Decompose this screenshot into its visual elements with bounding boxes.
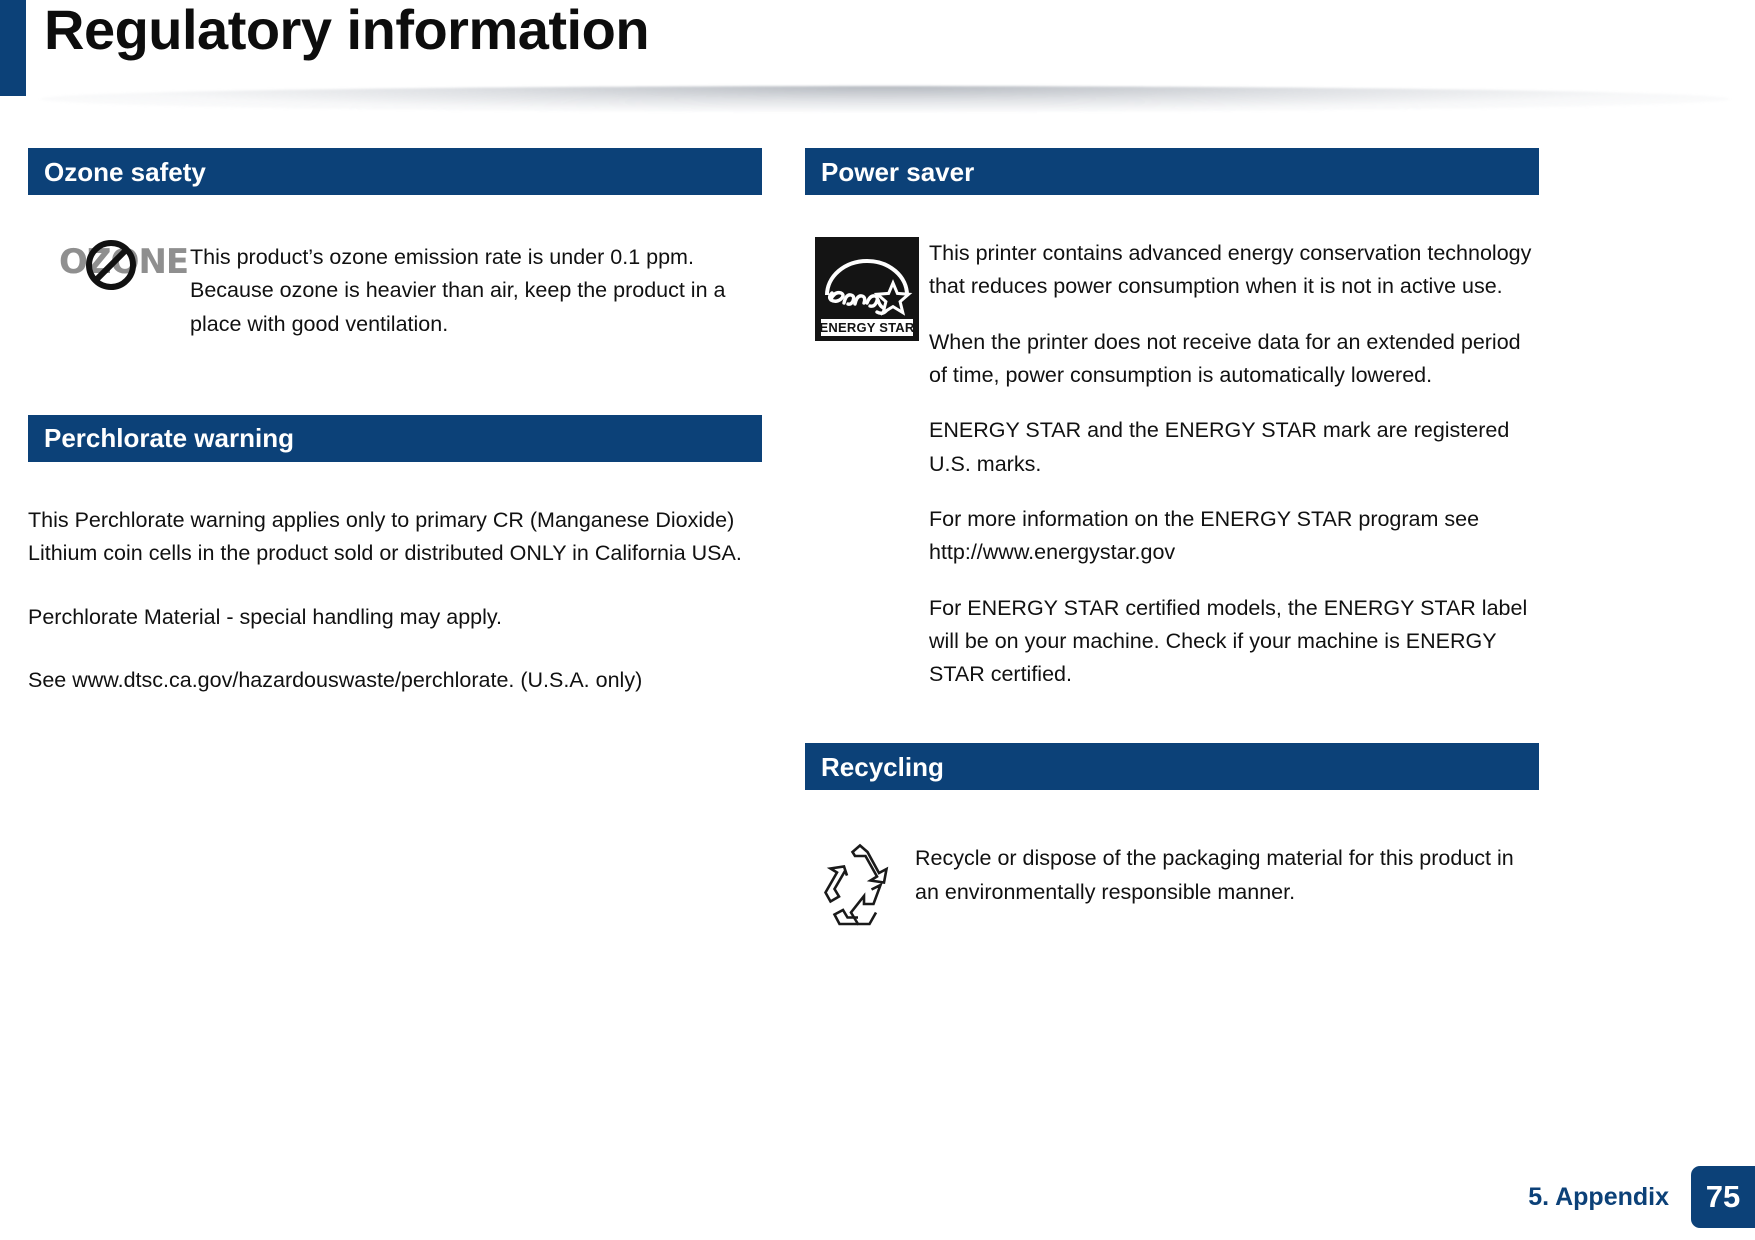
section-body-power-saver: ENERGY STAR This printer contains advanc…: [805, 237, 1539, 691]
section-header-recycling: Recycling: [805, 743, 1539, 790]
prohibition-sign-icon: [85, 239, 137, 291]
left-column: Ozone safety OZONE This product’s ozone …: [28, 148, 762, 697]
page-number-badge: 75: [1691, 1166, 1755, 1228]
section-title-perchlorate-warning: Perchlorate warning: [28, 425, 294, 451]
page-header: Regulatory information: [0, 0, 1755, 100]
section-header-ozone-safety: Ozone safety: [28, 148, 762, 195]
recycling-paragraph-1: Recycle or dispose of the packaging mate…: [915, 842, 1539, 909]
section-title-recycling: Recycling: [805, 754, 944, 780]
page-footer: 5. Appendix 75: [0, 1166, 1755, 1240]
perchlorate-paragraph-1: This Perchlorate warning applies only to…: [28, 504, 762, 571]
power-saver-paragraph-4: For more information on the ENERGY STAR …: [929, 503, 1539, 570]
power-saver-paragraph-2: When the printer does not receive data f…: [929, 326, 1539, 393]
recycle-icon-cell: [805, 842, 915, 928]
power-saver-paragraph-5: For ENERGY STAR certified models, the EN…: [929, 592, 1539, 692]
perchlorate-paragraph-3: See www.dtsc.ca.gov/hazardouswaste/perch…: [28, 664, 762, 697]
ozone-prohibited-icon: OZONE: [59, 241, 159, 297]
section-body-recycling: Recycle or dispose of the packaging mate…: [805, 842, 1539, 928]
perchlorate-paragraph-2: Perchlorate Material - special handling …: [28, 601, 762, 634]
energy-star-icon-cell: ENERGY STAR: [805, 237, 929, 341]
energy-star-logo-art: ENERGY STAR: [815, 237, 919, 341]
power-saver-text-cell: This printer contains advanced energy co…: [929, 237, 1539, 691]
title-accent-bar: [0, 0, 26, 96]
right-column: Power saver: [805, 148, 1539, 928]
page-title: Regulatory information: [44, 2, 649, 58]
section-title-power-saver: Power saver: [805, 159, 974, 185]
power-saver-paragraph-3: ENERGY STAR and the ENERGY STAR mark are…: [929, 414, 1539, 481]
title-shadow-divider: [40, 86, 1730, 112]
ozone-text-cell: This product’s ozone emission rate is un…: [190, 241, 762, 341]
footer-content: 5. Appendix 75: [1528, 1166, 1755, 1228]
section-body-ozone-safety: OZONE This product’s ozone emission rate…: [28, 241, 762, 341]
section-body-perchlorate-warning: This Perchlorate warning applies only to…: [28, 504, 762, 697]
recycling-text-cell: Recycle or dispose of the packaging mate…: [915, 842, 1539, 909]
power-saver-paragraph-1: This printer contains advanced energy co…: [929, 237, 1539, 304]
energy-star-logo: ENERGY STAR: [815, 237, 919, 341]
ozone-paragraph-1: This product’s ozone emission rate is un…: [190, 241, 762, 341]
section-header-perchlorate-warning: Perchlorate warning: [28, 415, 762, 462]
ozone-icon-cell: OZONE: [28, 241, 190, 297]
section-title-ozone-safety: Ozone safety: [28, 159, 206, 185]
recycle-icon: [814, 842, 906, 928]
svg-text:ENERGY STAR: ENERGY STAR: [820, 320, 915, 335]
footer-chapter-label: 5. Appendix: [1528, 1183, 1669, 1212]
section-header-power-saver: Power saver: [805, 148, 1539, 195]
